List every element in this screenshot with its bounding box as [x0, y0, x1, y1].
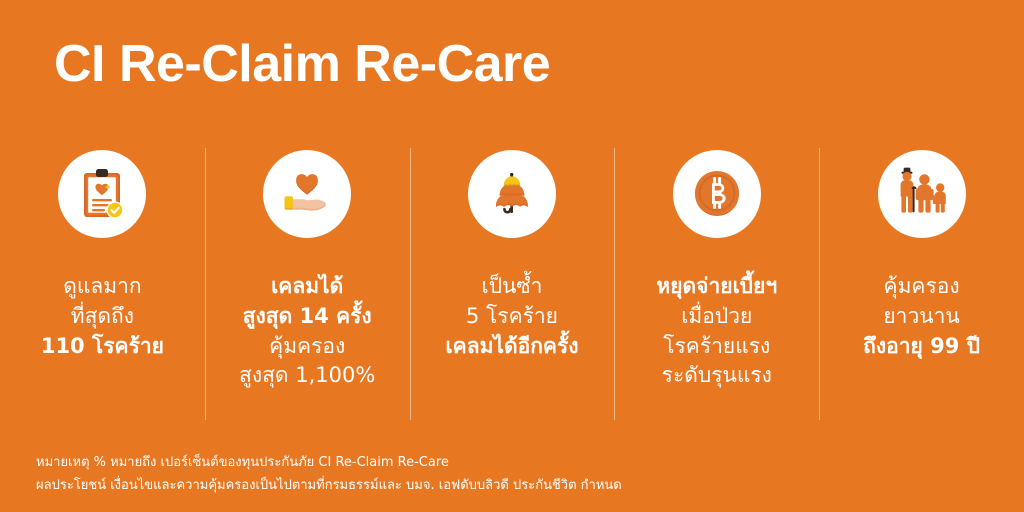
footnote-line: ผลประโยชน์ เงื่อนไขและความคุ้มครองเป็นไป…: [36, 475, 622, 498]
clipboard-heart-check-icon: [72, 164, 132, 224]
family-three-people-icon: [891, 166, 953, 222]
caption-line: หยุดจ่ายเบี้ยฯ: [620, 272, 813, 302]
caption-line: สูงสุด 14 ครั้ง: [211, 302, 404, 332]
feature-item-coverage-count: ดูแลมาก ที่สุดถึง 110 โรคร้าย: [0, 140, 205, 430]
feature-item-claim-times: เคลมได้ สูงสุด 14 ครั้ง คุ้มครอง สูงสุด …: [205, 140, 410, 430]
icon-badge: [673, 150, 761, 238]
baht-coin-icon: [688, 165, 746, 223]
caption-line: ถึงอายุ 99 ปี: [825, 332, 1018, 362]
icon-badge: [263, 150, 351, 238]
caption-line: ที่สุดถึง: [6, 302, 199, 332]
caption-line: ดูแลมาก: [6, 272, 199, 302]
hand-holding-heart-icon: [276, 163, 338, 225]
caption-line: คุ้มครอง: [825, 272, 1018, 302]
caption-line: เคลมได้: [211, 272, 404, 302]
caption-line: ยาวนาน: [825, 302, 1018, 332]
feature-caption: เป็นซ้ำ 5 โรคร้าย เคลมได้อีกครั้ง: [410, 272, 615, 361]
caption-line: เมื่อป่วย: [620, 302, 813, 332]
icon-badge: [878, 150, 966, 238]
page-title: CI Re-Claim Re-Care: [54, 36, 550, 93]
caption-line: โรคร้ายแรง: [620, 332, 813, 362]
feature-item-repeat-claim: เป็นซ้ำ 5 โรคร้าย เคลมได้อีกครั้ง: [410, 140, 615, 430]
feature-caption: ดูแลมาก ที่สุดถึง 110 โรคร้าย: [0, 272, 205, 361]
feature-list: ดูแลมาก ที่สุดถึง 110 โรคร้าย: [0, 140, 1024, 430]
caption-line: เป็นซ้ำ: [416, 272, 609, 302]
feature-caption: หยุดจ่ายเบี้ยฯ เมื่อป่วย โรคร้ายแรง ระดั…: [614, 272, 819, 391]
feature-item-coverage-age: คุ้มครอง ยาวนาน ถึงอายุ 99 ปี: [819, 140, 1024, 430]
caption-line: คุ้มครอง: [211, 332, 404, 362]
caption-line: 110 โรคร้าย: [6, 332, 199, 362]
caption-line: 5 โรคร้าย: [416, 302, 609, 332]
caption-line: เคลมได้อีกครั้ง: [416, 332, 609, 362]
feature-caption: คุ้มครอง ยาวนาน ถึงอายุ 99 ปี: [819, 272, 1024, 361]
caption-line: ระดับรุนแรง: [620, 361, 813, 391]
feature-caption: เคลมได้ สูงสุด 14 ครั้ง คุ้มครอง สูงสุด …: [205, 272, 410, 391]
footnote: หมายเหตุ % หมายถึง เปอร์เซ็นต์ของทุนประก…: [36, 452, 622, 498]
stacked-umbrellas-icon: [483, 165, 541, 223]
footnote-line: หมายเหตุ % หมายถึง เปอร์เซ็นต์ของทุนประก…: [36, 452, 622, 475]
caption-line: สูงสุด 1,100%: [211, 361, 404, 391]
promo-banner: CI Re-Claim Re-Care: [0, 0, 1024, 512]
icon-badge: [468, 150, 556, 238]
feature-item-premium-waiver: หยุดจ่ายเบี้ยฯ เมื่อป่วย โรคร้ายแรง ระดั…: [614, 140, 819, 430]
icon-badge: [58, 150, 146, 238]
